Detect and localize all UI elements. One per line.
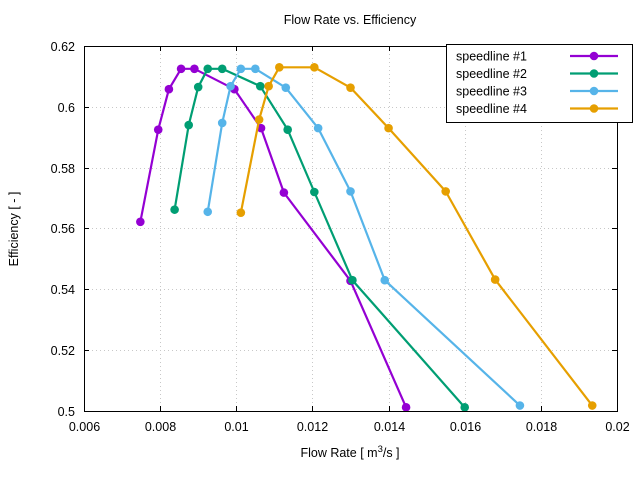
chart-container: Flow Rate vs. Efficiency0.0060.0080.010.… [0,0,640,480]
x-tick-label: 0.016 [450,420,481,434]
legend-marker-3 [590,87,599,96]
data-point-s1-4 [177,65,186,74]
data-point-s1-1 [136,218,145,227]
y-tick-label: 0.6 [58,101,75,115]
data-point-s2-7 [283,125,292,134]
y-tick-label: 0.58 [51,162,75,176]
data-point-s2-6 [256,82,265,91]
x-tick-label: 0.014 [374,420,405,434]
data-point-s2-10 [460,403,469,412]
data-point-s2-8 [310,188,319,197]
data-point-s2-3 [194,83,203,92]
data-point-s3-8 [346,187,355,196]
y-tick-label: 0.62 [51,40,75,54]
y-tick-label: 0.56 [51,222,75,236]
data-point-s3-1 [203,207,212,216]
data-point-s2-9 [348,276,357,285]
data-point-s1-5 [190,65,199,74]
x-tick-label: 0.006 [69,420,100,434]
legend-marker-2 [590,69,599,78]
chart-title: Flow Rate vs. Efficiency [284,13,417,27]
data-point-s4-7 [384,124,393,133]
y-axis-label: Efficiency [ - ] [7,192,21,267]
data-point-s3-10 [516,401,525,410]
data-point-s1-3 [165,85,174,94]
data-point-s3-5 [251,65,260,74]
x-tick-label: 0.012 [297,420,328,434]
series-line-1 [140,69,406,408]
data-point-s4-4 [275,63,284,72]
data-point-s3-2 [218,119,227,128]
data-point-s4-2 [255,115,264,124]
y-tick-label: 0.52 [51,344,75,358]
data-point-s4-6 [346,83,355,92]
data-point-s4-1 [237,208,246,217]
x-tick-label: 0.02 [605,420,629,434]
legend-label-4: speedline #4 [456,102,527,116]
legend-marker-4 [590,104,599,113]
flow-rate-efficiency-chart: Flow Rate vs. Efficiency0.0060.0080.010.… [0,0,640,480]
data-point-s3-3 [226,82,235,91]
x-tick-label: 0.01 [224,420,248,434]
x-tick-label: 0.018 [526,420,557,434]
data-point-s2-1 [170,205,179,214]
legend-label-1: speedline #1 [456,50,527,64]
data-point-s3-4 [237,65,246,74]
data-point-s3-7 [314,124,323,133]
data-point-s1-8 [280,188,289,197]
data-point-s1-2 [154,125,163,134]
data-point-s4-5 [310,63,319,72]
data-point-s2-5 [218,65,227,74]
y-tick-label: 0.54 [51,283,75,297]
data-point-s2-4 [203,65,212,74]
legend-label-3: speedline #3 [456,85,527,99]
legend-marker-1 [590,52,599,61]
data-point-s1-10 [402,403,411,412]
x-axis-label: Flow Rate [ m3/s ] [300,444,399,460]
data-point-s4-10 [588,401,597,410]
legend-label-2: speedline #2 [456,67,527,81]
x-tick-label: 0.008 [145,420,176,434]
data-point-s3-9 [380,276,389,285]
data-point-s4-3 [264,82,273,91]
data-point-s4-9 [491,275,500,284]
data-point-s4-8 [441,187,450,196]
data-point-s2-2 [184,121,193,130]
data-point-s3-6 [281,83,290,92]
y-tick-label: 0.5 [58,405,75,419]
series-line-2 [175,69,465,408]
